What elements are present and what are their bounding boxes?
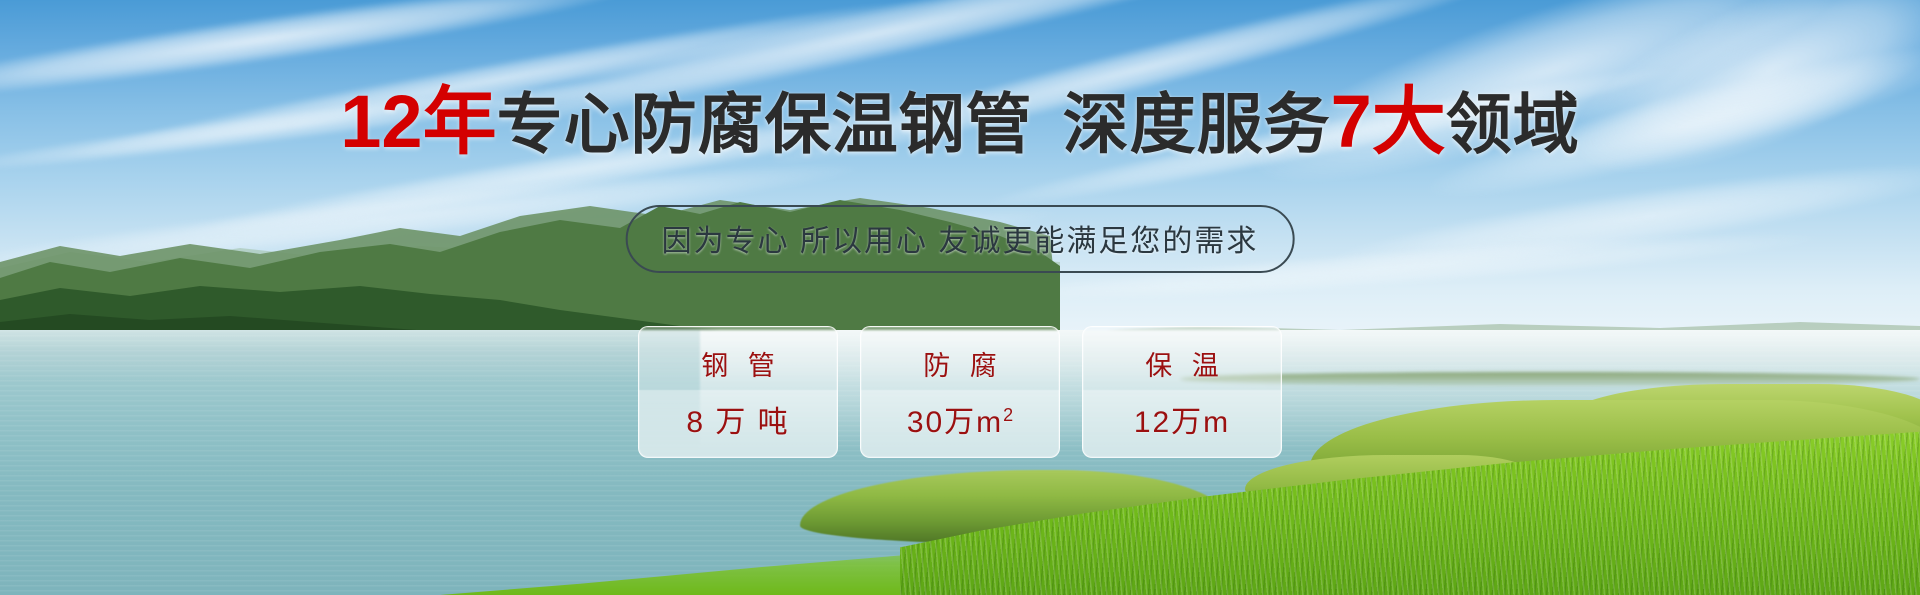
stat-card-group: 钢 管 8 万 吨 防 腐 30万m2 保 温 12万m — [638, 326, 1282, 458]
stat-value: 12万m — [1134, 397, 1230, 441]
stat-label: 钢 管 — [695, 344, 781, 383]
stat-value-text: 12万m — [1134, 406, 1230, 439]
stat-value-text: 8 万 吨 — [686, 406, 789, 439]
headline-years-number: 12 — [340, 80, 422, 163]
stat-value-text: 30万m — [907, 406, 1003, 439]
stat-value: 8 万 吨 — [686, 397, 789, 441]
stat-card-steel-pipe[interactable]: 钢 管 8 万 吨 — [638, 326, 838, 458]
headline-fields-unit: 大 — [1372, 80, 1446, 163]
headline-years-unit: 年 — [423, 80, 497, 163]
headline-main-part1: 专心防腐保温钢管 — [497, 87, 1033, 161]
subtitle-pill: 因为专心 所以用心 友诚更能满足您的需求 — [626, 205, 1295, 273]
stat-label: 防 腐 — [917, 344, 1003, 383]
stat-card-insulation[interactable]: 保 温 12万m — [1082, 326, 1282, 458]
stat-label: 保 温 — [1139, 344, 1225, 383]
hero-banner: 12年专心防腐保温钢管深度服务7大领域 因为专心 所以用心 友诚更能满足您的需求… — [0, 0, 1920, 595]
page-title: 12年专心防腐保温钢管深度服务7大领域 — [0, 82, 1920, 162]
stat-value-superscript: 2 — [1003, 405, 1013, 425]
headline-main-part3: 领域 — [1446, 87, 1580, 161]
stat-value: 30万m2 — [907, 397, 1013, 441]
stat-card-anticorrosion[interactable]: 防 腐 30万m2 — [860, 326, 1060, 458]
headline-main-part2: 深度服务 — [1063, 87, 1331, 161]
headline-fields-number: 7 — [1331, 80, 1372, 163]
